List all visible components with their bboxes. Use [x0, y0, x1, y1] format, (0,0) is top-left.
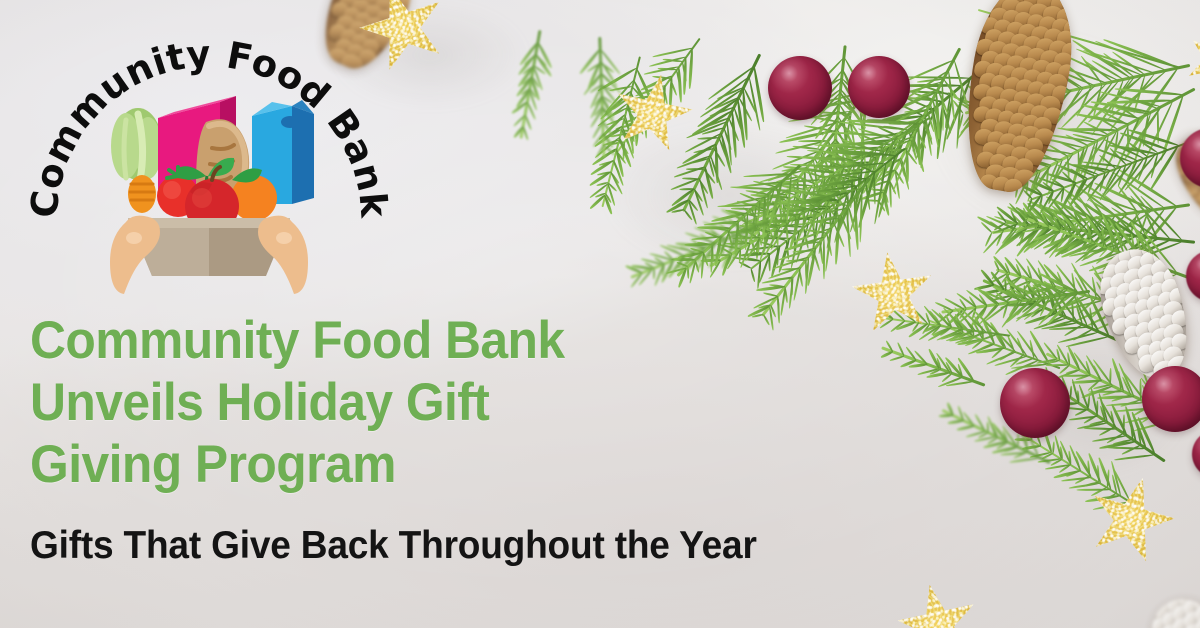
sprig-needle — [524, 114, 532, 130]
sprig-needle — [683, 57, 687, 95]
page-title: Community Food Bank Unveils Holiday Gift… — [30, 310, 820, 496]
sprig-needle — [721, 208, 760, 227]
cranberry-icon — [1142, 366, 1200, 432]
cranberry-icon — [1000, 368, 1070, 438]
holiday-announcement-banner: Community Food Bank — [0, 0, 1200, 628]
orange-icon — [231, 175, 277, 221]
sprig-needle — [689, 48, 694, 89]
headline-line-2: Unveils Holiday Gift — [30, 372, 820, 434]
lettuce-icon — [111, 108, 162, 180]
cranberry-icon — [768, 56, 832, 120]
sprig-needle — [1076, 489, 1110, 492]
logo-grocery-box-art — [86, 72, 332, 294]
headline-line-3: Giving Program — [30, 434, 820, 496]
sprig-needle — [941, 81, 944, 130]
carrot-icon — [128, 175, 156, 213]
headline-line-1: Community Food Bank — [30, 310, 820, 372]
sprig-needle — [859, 188, 863, 242]
sprig-needle — [786, 173, 793, 221]
sprig-needle — [986, 421, 988, 432]
sprig-needle — [956, 425, 975, 431]
page-subtitle: Gifts That Give Back Throughout the Year — [30, 522, 923, 570]
cranberry-icon — [848, 56, 910, 118]
sprig-needle — [939, 414, 953, 417]
sprig-needle — [947, 420, 964, 425]
community-food-bank-logo: Community Food Bank — [24, 4, 392, 304]
sprig-needle — [653, 268, 655, 279]
sprig-needle — [1069, 385, 1072, 397]
